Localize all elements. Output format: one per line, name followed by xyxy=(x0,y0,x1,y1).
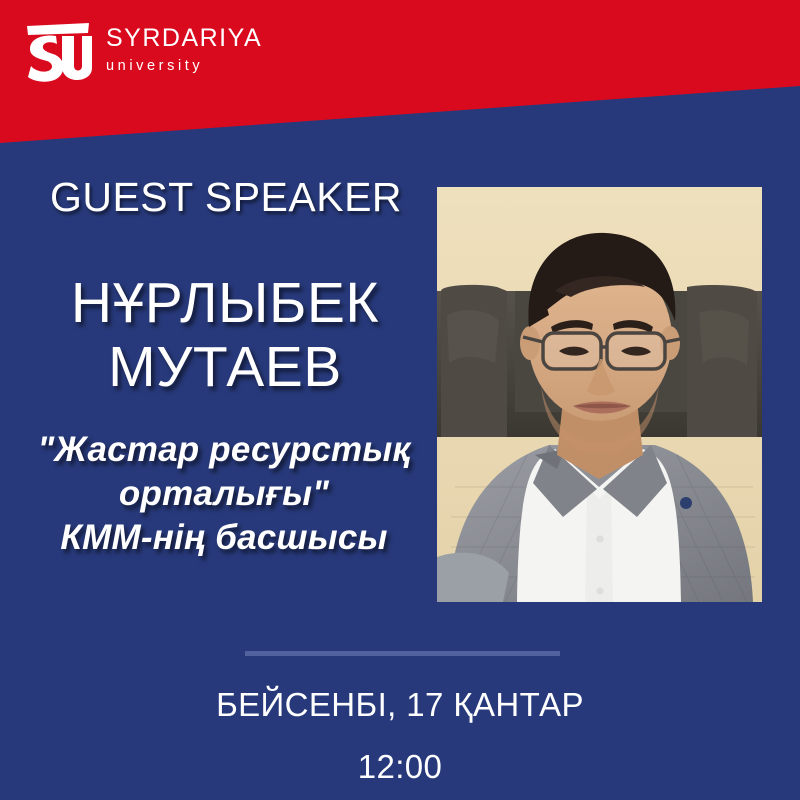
speaker-role: "Жастар ресурстық орталығы" КММ-нің басш… xyxy=(8,428,440,560)
speaker-name: НҰРЛЫБЕК МУТАЕВ xyxy=(10,272,440,400)
logo-subtitle: university xyxy=(106,59,262,74)
logo-wordmark: SYRDARIYA university xyxy=(106,20,262,74)
speaker-role-line-3: КММ-нің басшысы xyxy=(8,516,440,560)
footer-divider xyxy=(245,651,560,656)
speaker-role-line-2: орталығы" xyxy=(8,472,440,516)
event-date: БЕЙСЕНБІ, 17 ҚАНТАР xyxy=(0,688,800,721)
speaker-name-line-2: МУТАЕВ xyxy=(10,336,440,400)
speaker-role-line-1: "Жастар ресурстық xyxy=(8,428,440,472)
event-details: БЕЙСЕНБІ, 17 ҚАНТАР 12:00 xyxy=(0,688,800,783)
speaker-photo xyxy=(437,187,762,602)
university-logo: SYRDARIYA university xyxy=(22,20,262,92)
guest-speaker-poster: SYRDARIYA university GUEST SPEAKER НҰРЛЫ… xyxy=(0,0,800,800)
speaker-info-block: GUEST SPEAKER НҰРЛЫБЕК МУТАЕВ "Жастар ре… xyxy=(0,176,440,560)
su-monogram-icon xyxy=(22,20,94,92)
speaker-name-line-1: НҰРЛЫБЕК xyxy=(10,272,440,336)
kicker-label: GUEST SPEAKER xyxy=(12,176,440,219)
logo-name: SYRDARIYA xyxy=(106,26,262,51)
event-time: 12:00 xyxy=(0,750,800,783)
